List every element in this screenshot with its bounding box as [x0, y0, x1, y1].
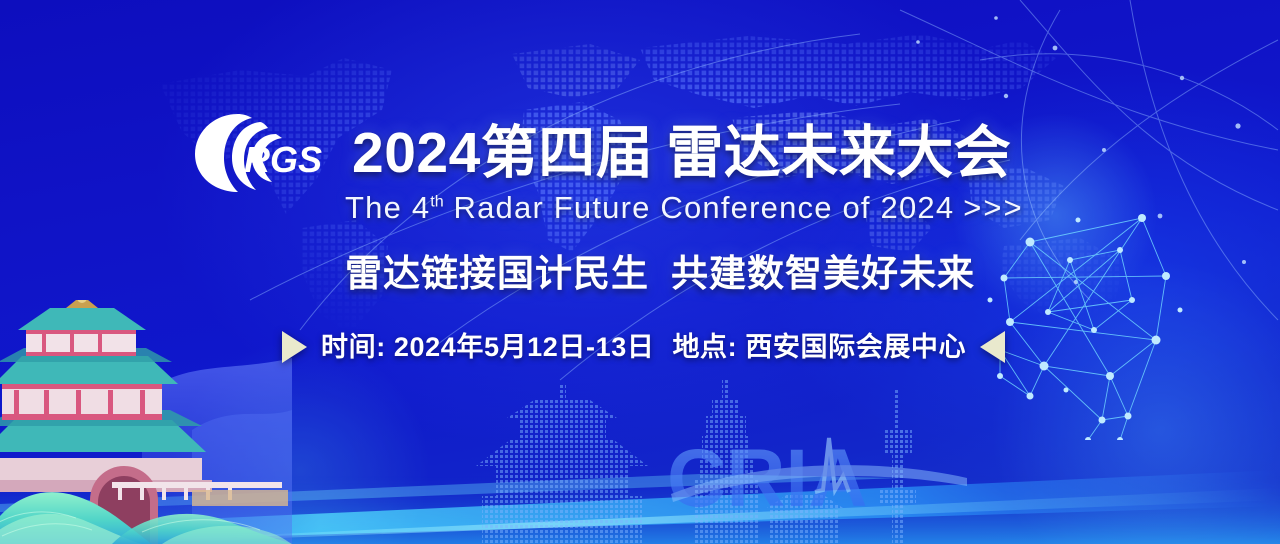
- crgs-logo: RGS: [190, 112, 336, 194]
- title-row: RGS 2024第四届雷达未来大会: [190, 112, 1011, 194]
- slogan-part1: 雷达链接国计民生: [345, 253, 649, 294]
- event-info-text: 时间: 2024年5月12日-13日地点: 西安国际会展中心: [321, 334, 966, 361]
- main-title-part2: 雷达未来大会: [666, 121, 1011, 185]
- main-title-part1: 2024第四届: [352, 121, 653, 185]
- slogan: 雷达链接国计民生共建数智美好未来: [345, 255, 975, 292]
- english-subtitle: The 4th Radar Future Conference of 2024>…: [345, 192, 1024, 223]
- subtitle-rest: Radar Future Conference of 2024: [444, 190, 955, 225]
- conference-banner: CRIA: [0, 0, 1280, 544]
- slogan-part2: 共建数智美好未来: [671, 253, 975, 294]
- event-info-line: 时间: 2024年5月12日-13日地点: 西安国际会展中心: [282, 331, 1005, 363]
- subtitle-ordinal: th: [430, 193, 443, 211]
- chevron-forward-icon: >>>: [963, 190, 1023, 225]
- triangle-right-icon: [282, 331, 307, 363]
- main-title: 2024第四届雷达未来大会: [352, 125, 1011, 182]
- event-time: 时间: 2024年5月12日-13日: [321, 332, 654, 362]
- event-place: 地点: 西安国际会展中心: [672, 332, 966, 362]
- crgs-wordmark: RGS: [244, 139, 322, 180]
- triangle-left-icon: [980, 331, 1005, 363]
- subtitle-lead: The 4: [345, 190, 430, 225]
